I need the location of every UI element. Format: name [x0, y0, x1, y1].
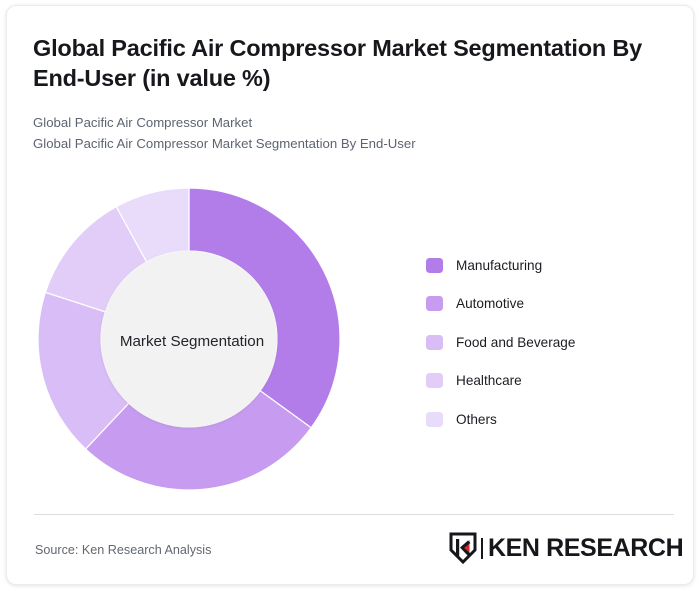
chart-legend: ManufacturingAutomotiveFood and Beverage…: [426, 246, 575, 439]
logo-divider: [481, 538, 483, 559]
legend-swatch-icon: [426, 412, 443, 427]
donut-center-hole: [101, 251, 277, 427]
legend-item-label: Automotive: [456, 296, 524, 311]
legend-swatch-icon: [426, 335, 443, 350]
source-note: Source: Ken Research Analysis: [35, 543, 211, 557]
legend-item-label: Food and Beverage: [456, 335, 575, 350]
legend-item[interactable]: Others: [426, 400, 575, 439]
ken-research-logo-mark-icon: [449, 532, 477, 564]
legend-swatch-icon: [426, 258, 443, 273]
chart-subtitle-segmentation: Global Pacific Air Compressor Market Seg…: [33, 135, 416, 152]
chart-card: Global Pacific Air Compressor Market Seg…: [6, 5, 694, 585]
footer-divider: [34, 514, 674, 515]
legend-swatch-icon: [426, 373, 443, 388]
legend-item-label: Others: [456, 412, 497, 427]
donut-chart: Market Segmentation: [27, 176, 357, 506]
legend-item[interactable]: Food and Beverage: [426, 323, 575, 362]
legend-item-label: Manufacturing: [456, 258, 542, 273]
donut-chart-svg: [27, 176, 357, 506]
page-title: Global Pacific Air Compressor Market Seg…: [33, 33, 658, 93]
legend-item-label: Healthcare: [456, 373, 522, 388]
legend-swatch-icon: [426, 296, 443, 311]
logo-wordmark: KEN RESEARCH: [488, 536, 683, 561]
legend-item[interactable]: Automotive: [426, 285, 575, 324]
ken-research-logo: KEN RESEARCH: [449, 530, 683, 566]
legend-item[interactable]: Manufacturing: [426, 246, 575, 285]
chart-subtitle-market: Global Pacific Air Compressor Market: [33, 114, 252, 131]
legend-item[interactable]: Healthcare: [426, 362, 575, 401]
